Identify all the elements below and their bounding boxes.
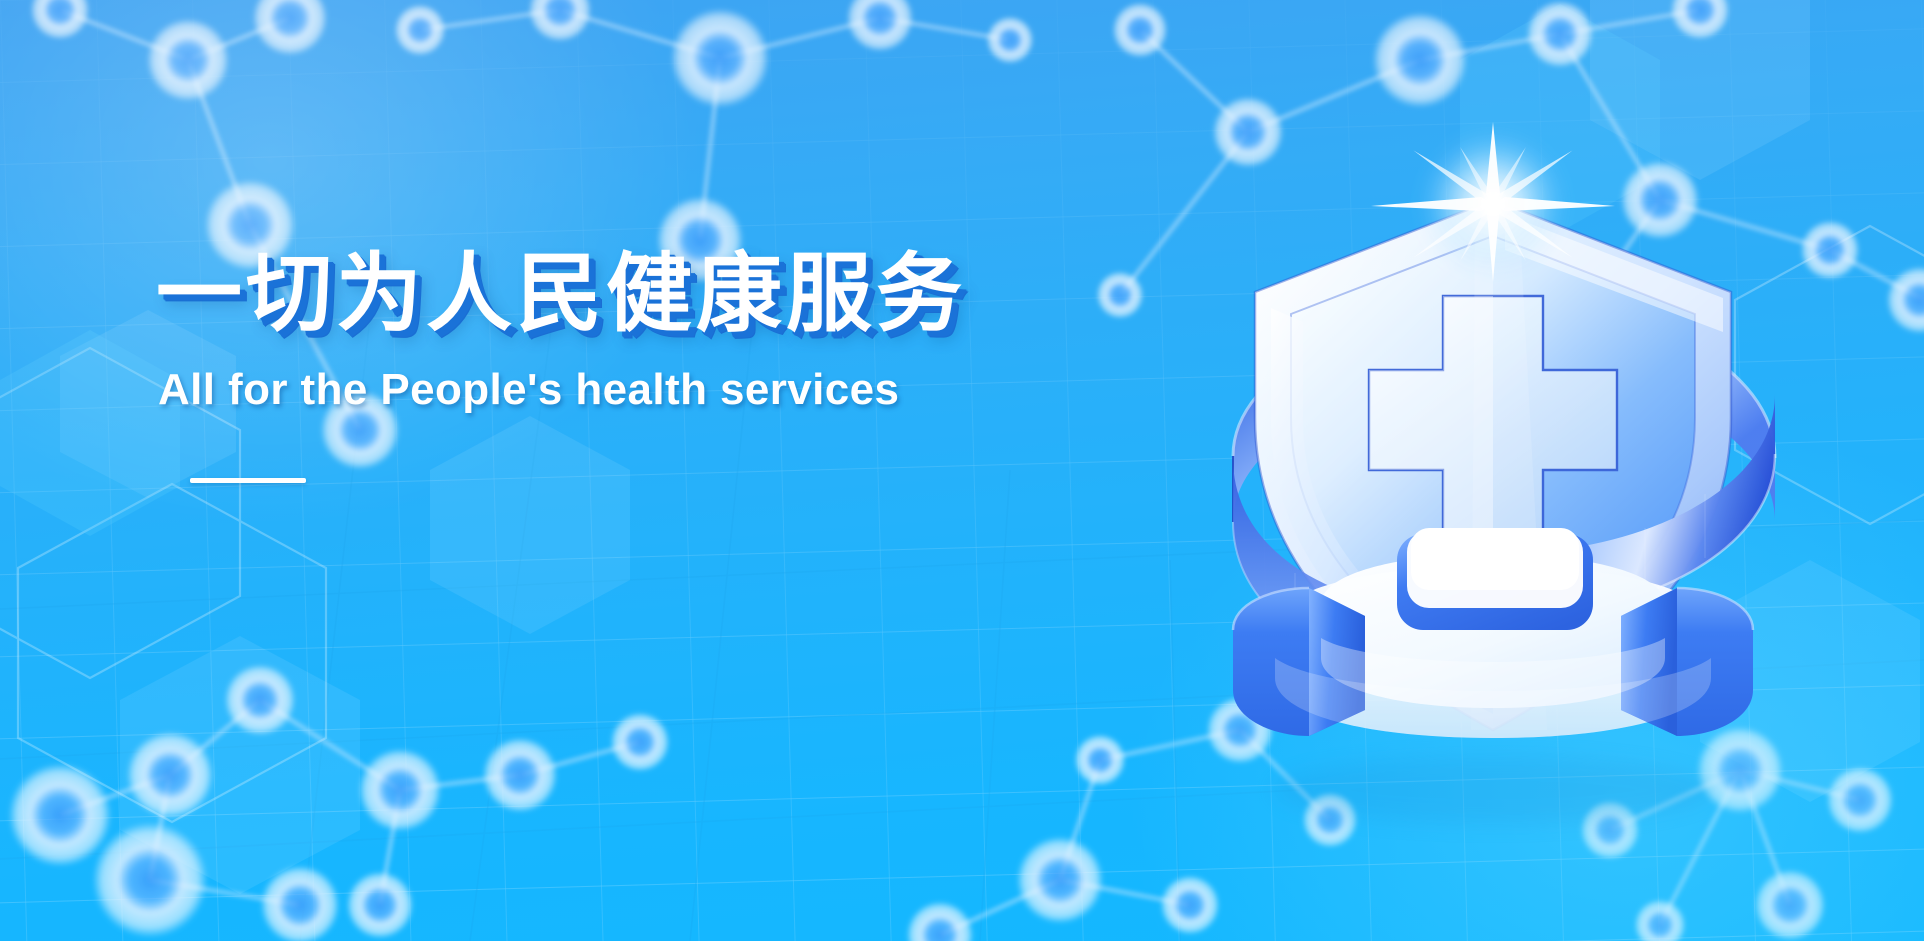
medical-shield-emblem — [1175, 118, 1815, 838]
page-subtitle: All for the People's health services — [158, 364, 1016, 416]
page-title: 一切为人民健康服务 — [156, 246, 1016, 342]
headline-block: 一切为人民健康服务 All for the People's health se… — [156, 246, 1016, 483]
decorative-rule — [190, 478, 306, 483]
health-banner: 一切为人民健康服务 All for the People's health se… — [0, 0, 1924, 941]
pedestal-socket — [1397, 528, 1593, 630]
